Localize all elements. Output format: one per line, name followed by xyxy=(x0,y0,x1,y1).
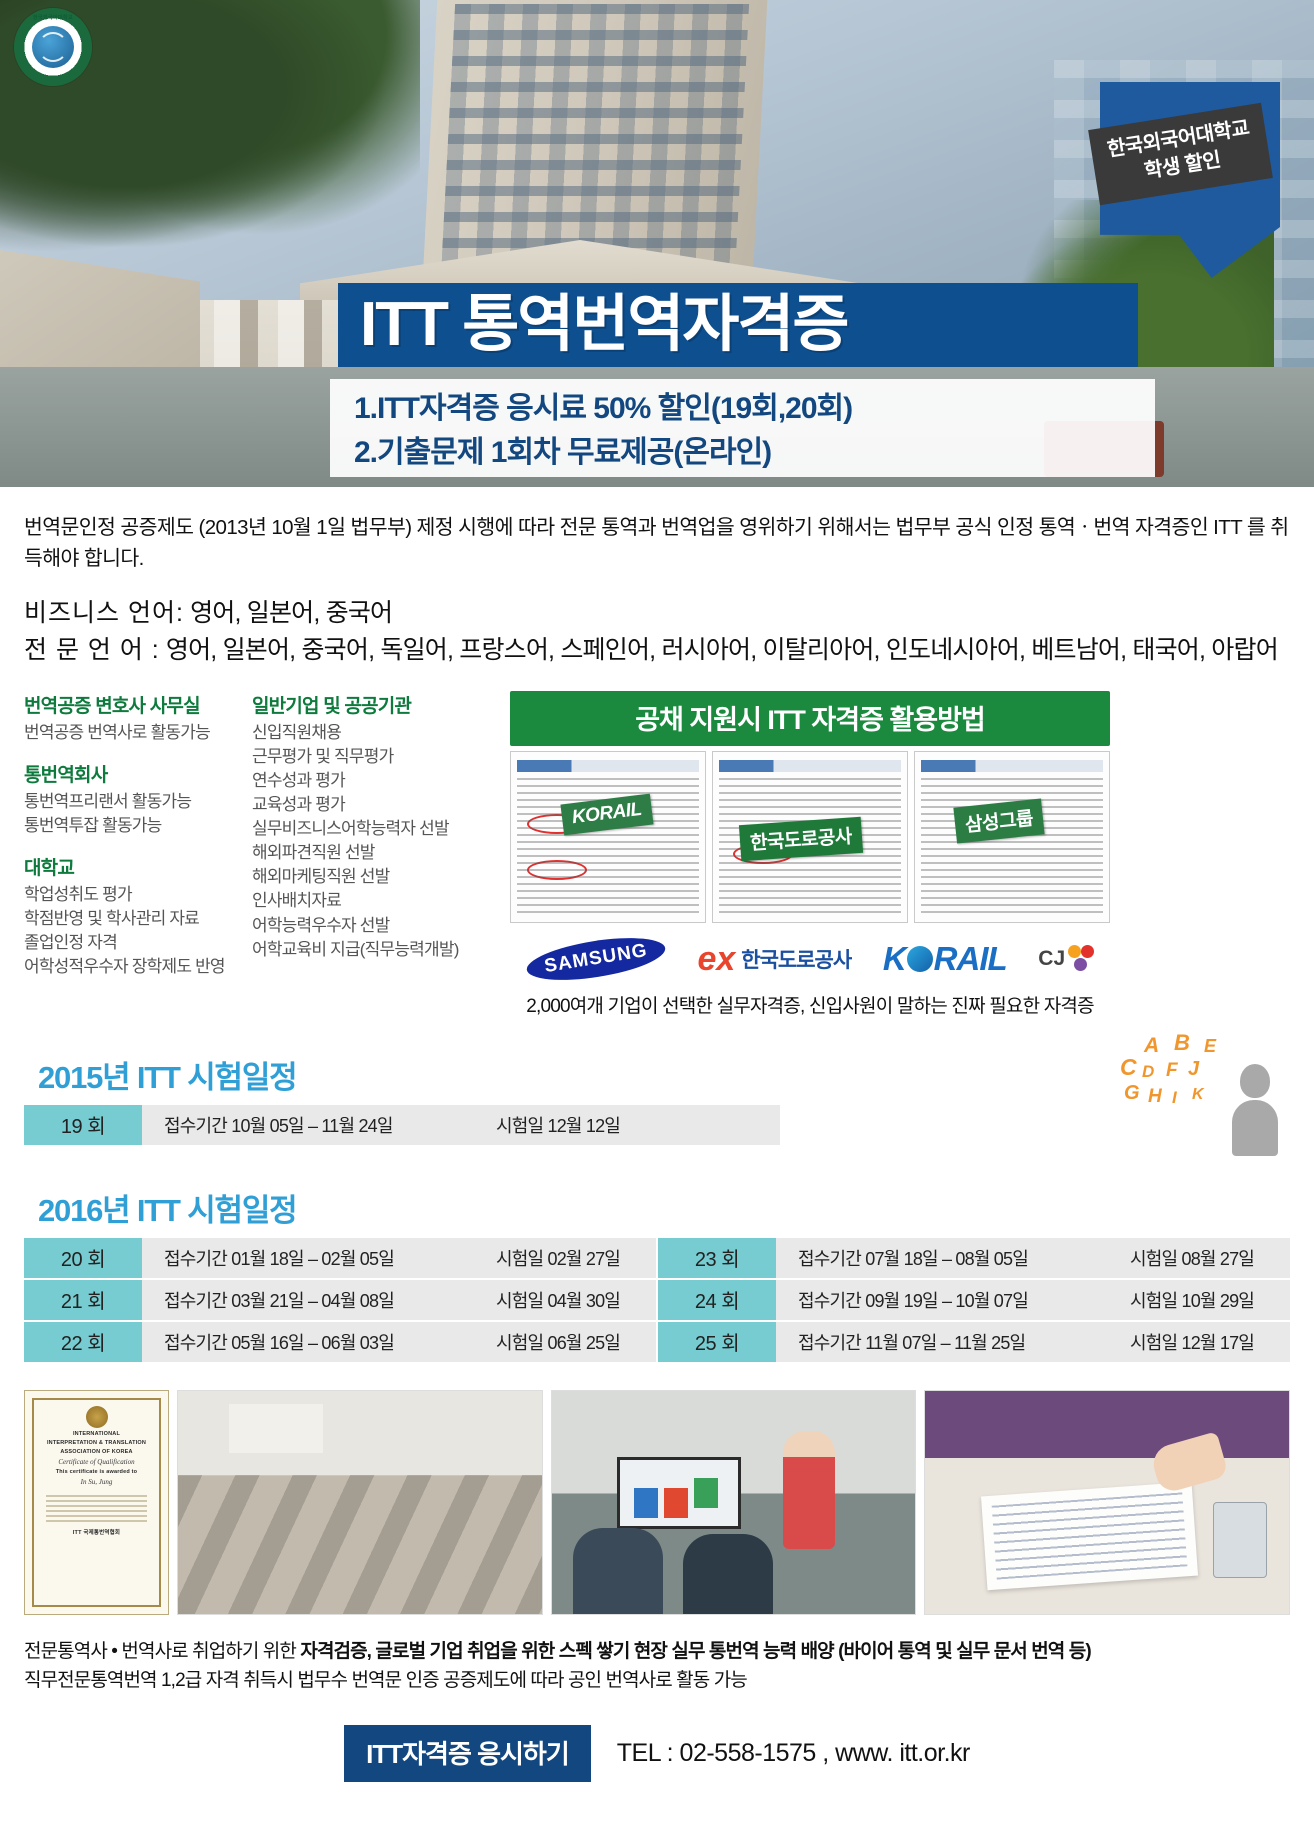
university-crest-logo: 한국외국어대학교 xyxy=(14,8,92,86)
doodle-letter: F xyxy=(1166,1060,1178,1082)
benefit-heading: 통번역회사 xyxy=(24,760,252,787)
cj-label: CJ xyxy=(1038,947,1065,971)
schedule-detail: 접수기간 10월 05일 – 11월 24일 시험일 12월 12일 xyxy=(142,1105,780,1145)
korea-expressway-label: 한국도로공사 xyxy=(741,944,851,974)
schedule-exam-date: 시험일 10월 29일 xyxy=(1130,1287,1290,1313)
schedule-2015-table: 19 회 접수기간 10월 05일 – 11월 24일 시험일 12월 12일 xyxy=(24,1105,1290,1145)
korail-globe-icon xyxy=(907,946,933,972)
business-language-value: 영어, 일본어, 중국어 xyxy=(190,599,392,627)
schedule-period: 접수기간 03월 21일 – 04월 08일 xyxy=(142,1287,496,1313)
contact-info: TEL : 02-558-1575 , www. itt.or.kr xyxy=(617,1739,970,1768)
schedule-round: 23 회 xyxy=(658,1238,776,1278)
korail-label-rest: RAIL xyxy=(934,942,1007,975)
certificate-awarded-to: This certificate is awarded to xyxy=(56,1469,138,1475)
promo-header: 공채 지원시 ITT 자격증 활용방법 xyxy=(510,691,1110,746)
benefit-item: 해외파견직원 선발 xyxy=(252,841,500,865)
apply-button[interactable]: ITT자격증 응시하기 xyxy=(344,1725,591,1782)
schedule-detail: 접수기간 03월 21일 – 04월 08일 시험일 04월 30일 xyxy=(142,1280,656,1320)
schedule-period: 접수기간 10월 05일 – 11월 24일 xyxy=(142,1112,496,1138)
schedule-2016-title: 2016년 ITT 시험일정 xyxy=(38,1185,1290,1230)
schedule-detail: 접수기간 01월 18일 – 02월 05일 시험일 02월 27일 xyxy=(142,1238,656,1278)
doodle-letter: G xyxy=(1124,1082,1140,1105)
business-language-line: 비즈니스 언어: 영어, 일본어, 중국어 xyxy=(24,595,1314,632)
table-row: 20 회 접수기간 01월 18일 – 02월 05일 시험일 02월 27일 … xyxy=(24,1238,1290,1278)
promo-caption: 2,000여개 기업이 선택한 실무자격증, 신입사원이 말하는 진짜 필요한 … xyxy=(510,991,1110,1018)
certificate-org-line1: INTERNATIONAL xyxy=(73,1431,120,1437)
footer-line-1-bold: 자격검증, 글로벌 기업 취업을 위한 스펙 쌓기 현장 실무 통번역 능력 배… xyxy=(300,1641,1090,1662)
poster-subtitle-2: 2.기출문제 1회차 무료제공(온라인) xyxy=(354,431,1155,475)
benefit-item: 어학성적우수자 장학제도 반영 xyxy=(24,955,252,979)
call-to-action-row: ITT자격증 응시하기 TEL : 02-558-1575 , www. itt… xyxy=(0,1725,1314,1782)
footer-line-1-pre: 전문통역사 • 번역사로 취업하기 위한 xyxy=(24,1641,300,1662)
schedule-period: 접수기간 07월 18일 – 08월 05일 xyxy=(776,1245,1130,1271)
certificate-body: INTERNATIONAL INTERPRETATION & TRANSLATI… xyxy=(32,1398,161,1607)
doodle-letter: K xyxy=(1192,1086,1204,1104)
schedule-round: 20 회 xyxy=(24,1238,142,1278)
certificate-recipient-name: In Su, Jung xyxy=(81,1478,113,1486)
doodle-letter: J xyxy=(1188,1058,1199,1081)
benefit-item: 번역공증 번역사로 활동가능 xyxy=(24,721,252,745)
photo-strip: INTERNATIONAL INTERPRETATION & TRANSLATI… xyxy=(0,1390,1314,1615)
poster-subtitle-1: 1.ITT자격증 응시료 50% 할인(19회,20회) xyxy=(354,387,1155,431)
certificate-footer-left: ITT 국제통번역협회 xyxy=(73,1528,120,1536)
promo-screenshot-1 xyxy=(510,751,706,923)
highlight-circle xyxy=(527,860,587,880)
poster-title: ITT 통역번역자격증 xyxy=(338,294,847,356)
schedule-round: 25 회 xyxy=(658,1322,776,1362)
certificate-title: Certificate of Qualification xyxy=(58,1458,134,1466)
alphabet-doodle: A B E C D F J G H I K xyxy=(1118,1030,1278,1160)
benefit-heading: 번역공증 변호사 사무실 xyxy=(24,691,252,718)
doodle-person-icon xyxy=(1232,1064,1278,1154)
calculator xyxy=(1213,1502,1267,1578)
schedule-period: 접수기간 01월 18일 – 02월 05일 xyxy=(142,1245,496,1271)
benefit-item: 교육성과 평가 xyxy=(252,793,500,817)
business-language-label: 비즈니스 언어: xyxy=(24,599,184,627)
professional-language-value: 영어, 일본어, 중국어, 독일어, 프랑스어, 스페인어, 러시아어, 이탈리… xyxy=(166,636,1278,664)
doodle-letter: E xyxy=(1204,1036,1216,1057)
schedule-detail: 접수기간 09월 19일 – 10월 07일 시험일 10월 29일 xyxy=(776,1280,1290,1320)
schedule-round: 21 회 xyxy=(24,1280,142,1320)
benefit-item: 근무평가 및 직무평가 xyxy=(252,745,500,769)
schedule-detail: 접수기간 05월 16일 – 06월 03일 시험일 06월 25일 xyxy=(142,1322,656,1362)
benefit-heading: 일반기업 및 공공기관 xyxy=(252,691,500,718)
schedule-detail: 접수기간 07월 18일 – 08월 05일 시험일 08월 27일 xyxy=(776,1238,1290,1278)
schedule-exam-date: 시험일 04월 30일 xyxy=(496,1287,656,1313)
benefit-item: 인사배치자료 xyxy=(252,889,500,913)
certificate-seal-icon xyxy=(86,1406,108,1428)
ex-mark-icon: ex xyxy=(697,942,735,976)
benefit-item: 통번역프리랜서 활동가능 xyxy=(24,790,252,814)
hand-writing xyxy=(1149,1431,1229,1495)
poster-title-bar: ITT 통역번역자격증 xyxy=(338,283,1138,367)
benefit-item: 해외마케팅직원 선발 xyxy=(252,865,500,889)
korea-expressway-logo: ex 한국도로공사 xyxy=(697,942,851,976)
doodle-letter: B xyxy=(1174,1030,1190,1056)
benefit-item: 실무비즈니스어학능력자 선발 xyxy=(252,817,500,841)
hero-banner: 한국외국어대학교 한국외국어대학교 학생 할인 ITT 통역번역자격증 1.IT… xyxy=(0,0,1314,487)
language-list-block: 비즈니스 언어: 영어, 일본어, 중국어 전 문 언 어 : 영어, 일본어,… xyxy=(24,595,1314,669)
certificate-photo: INTERNATIONAL INTERPRETATION & TRANSLATI… xyxy=(24,1390,169,1615)
schedule-exam-date: 시험일 08월 27일 xyxy=(1130,1245,1290,1271)
table-row: 22 회 접수기간 05월 16일 – 06월 03일 시험일 06월 25일 … xyxy=(24,1322,1290,1362)
table-row: 21 회 접수기간 03월 21일 – 04월 08일 시험일 04월 30일 … xyxy=(24,1280,1290,1320)
korail-logo: K RAIL xyxy=(883,942,1007,975)
footer-line-2: 직무전문통역번역 1,2급 자격 취득시 법무수 번역문 인증 공증제도에 따라… xyxy=(24,1666,1290,1695)
schedule-period: 접수기간 05월 16일 – 06월 03일 xyxy=(142,1329,496,1355)
korail-label: K xyxy=(883,942,906,975)
schedule-round: 24 회 xyxy=(658,1280,776,1320)
promo-panel: 공채 지원시 ITT 자격증 활용방법 KORAIL 한국도로공사 삼성그룹 S… xyxy=(510,691,1110,1018)
footer-line-1: 전문통역사 • 번역사로 취업하기 위한 자격검증, 글로벌 기업 취업을 위한… xyxy=(24,1637,1290,1666)
benefit-item: 어학교육비 지급(직무능력개발) xyxy=(252,938,500,962)
benefits-column-1: 번역공증 변호사 사무실 번역공증 번역사로 활동가능 통번역회사 통번역프리랜… xyxy=(24,691,252,980)
schedules-section: A B E C D F J G H I K 2015년 ITT 시험일정 19 … xyxy=(0,1052,1314,1362)
benefit-item: 졸업인정 자격 xyxy=(24,931,252,955)
partner-logo-row: SAMSUNG ex 한국도로공사 K RAIL CJ xyxy=(510,937,1110,981)
professional-language-line: 전 문 언 어 : 영어, 일본어, 중국어, 독일어, 프랑스어, 스페인어,… xyxy=(24,632,1314,669)
schedule-exam-date: 시험일 06월 25일 xyxy=(496,1329,656,1355)
benefit-item: 통번역투잡 활동가능 xyxy=(24,814,252,838)
benefit-item: 연수성과 평가 xyxy=(252,769,500,793)
crest-top-label: 한국외국어대학교 xyxy=(33,14,73,21)
presentation-photo xyxy=(551,1390,917,1615)
footer-notes: 전문통역사 • 번역사로 취업하기 위한 자격검증, 글로벌 기업 취업을 위한… xyxy=(0,1637,1314,1696)
document-on-desk xyxy=(981,1481,1198,1589)
benefits-section: 번역공증 변호사 사무실 번역공증 번역사로 활동가능 통번역회사 통번역프리랜… xyxy=(0,691,1314,1018)
cj-dots-icon xyxy=(1068,945,1094,973)
schedule-period: 접수기간 09월 19일 – 10월 07일 xyxy=(776,1287,1130,1313)
desk-work-photo xyxy=(924,1390,1290,1615)
schedule-exam-date: 시험일 12월 17일 xyxy=(1130,1329,1290,1355)
doodle-letter: C xyxy=(1120,1054,1137,1081)
table-row: 19 회 접수기간 10월 05일 – 11월 24일 시험일 12월 12일 xyxy=(24,1105,1290,1145)
doodle-letter: H xyxy=(1148,1086,1162,1108)
poster-subtitle-box: 1.ITT자격증 응시료 50% 할인(19회,20회) 2.기출문제 1회차 … xyxy=(330,379,1155,477)
benefit-item: 신입직원채용 xyxy=(252,721,500,745)
presentation-screen xyxy=(617,1457,741,1528)
promo-screenshots: KORAIL 한국도로공사 삼성그룹 xyxy=(510,751,1110,923)
certificate-org-line3: ASSOCIATION OF KOREA xyxy=(60,1449,132,1455)
schedule-exam-date: 시험일 02월 27일 xyxy=(496,1245,656,1271)
benefit-item: 학업성취도 평가 xyxy=(24,883,252,907)
schedule-detail: 접수기간 11월 07일 – 11월 25일 시험일 12월 17일 xyxy=(776,1322,1290,1362)
audience-figures xyxy=(573,1528,663,1614)
schedule-round: 22 회 xyxy=(24,1322,142,1362)
samsung-logo: SAMSUNG xyxy=(524,930,668,987)
benefits-column-2: 일반기업 및 공공기관 신입직원채용 근무평가 및 직무평가 연수성과 평가 교… xyxy=(252,691,500,962)
schedule-2016-table: 20 회 접수기간 01월 18일 – 02월 05일 시험일 02월 27일 … xyxy=(24,1238,1290,1362)
doodle-letter: D xyxy=(1142,1062,1154,1082)
schedule-period: 접수기간 11월 07일 – 11월 25일 xyxy=(776,1329,1130,1355)
schedule-2015-title: 2015년 ITT 시험일정 xyxy=(38,1052,1290,1097)
benefit-heading: 대학교 xyxy=(24,853,252,880)
benefit-item: 어학능력우수자 선발 xyxy=(252,914,500,938)
certificate-org-line2: INTERPRETATION & TRANSLATION xyxy=(47,1440,146,1446)
schedule-round: 19 회 xyxy=(24,1105,142,1145)
presenter-figure xyxy=(783,1431,835,1549)
certificate-text-lines xyxy=(40,1492,153,1525)
benefit-item: 학점반영 및 학사관리 자료 xyxy=(24,907,252,931)
schedule-exam-date: 시험일 12월 12일 xyxy=(496,1112,656,1138)
crest-emblem-icon xyxy=(32,26,74,68)
professional-language-label: 전 문 언 어 : xyxy=(24,636,160,664)
doodle-letter: I xyxy=(1172,1088,1177,1108)
intro-paragraph: 번역문인정 공증제도 (2013년 10월 1일 법무부) 제정 시행에 따라 … xyxy=(24,513,1290,575)
classroom-photo xyxy=(177,1390,543,1615)
doodle-letter: A xyxy=(1144,1034,1159,1058)
cj-logo: CJ xyxy=(1038,945,1094,973)
